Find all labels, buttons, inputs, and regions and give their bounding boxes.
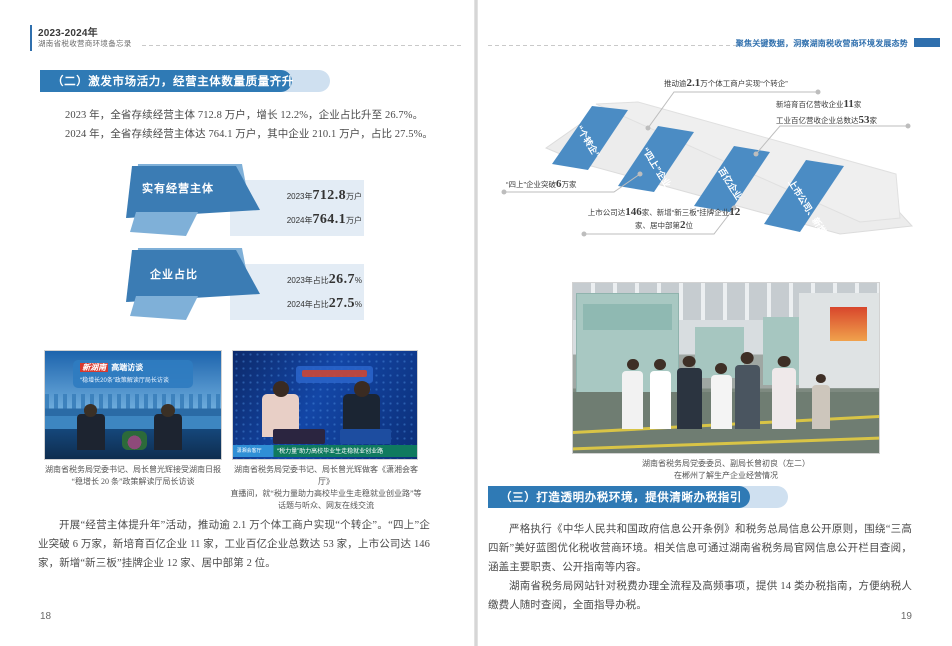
stat-row-value: 27.5 — [329, 296, 355, 311]
stat-row-prefix: 2024年占比 — [287, 300, 329, 309]
section-heading-2: （二）激发市场活力，经营主体数量质量齐升 — [40, 70, 330, 92]
leader-dot-4b — [582, 232, 587, 237]
photo-tv-interview: 新湖南高端访谈 “稳增长20条”政策解读厅局长访谈 — [44, 350, 222, 460]
photo-visitor-head — [778, 356, 791, 368]
stat-callout-enterprise-share: 企业占比 2023年占比26.7% 2024年占比27.5% — [124, 246, 374, 326]
running-head-dash-left — [142, 45, 462, 46]
running-head-rule — [30, 25, 32, 51]
stat-row-value: 26.7 — [329, 272, 355, 287]
right-paragraph-1: 严格执行《中华人民共和国政府信息公开条例》和税务总局信息公开原则，围绕“三高四新… — [488, 520, 912, 577]
left-intro-paragraph: 2023 年，全省存续经营主体 712.8 万户，增长 12.2%，企业占比升至… — [44, 106, 434, 144]
staircase-diagram: “个转企” “四上”企业 百亿企业 上市公司、新增企业 — [488, 66, 948, 244]
photo-skyline — [45, 394, 221, 418]
leader-dot-1 — [646, 126, 651, 131]
photo-desk-left — [273, 429, 325, 444]
diagram-annotation-4: “四上”企业突破6万家 — [506, 178, 577, 191]
photo-livestream: 潇湘会客厅 “税力量”助力高校毕业生走稳就业创业路 — [232, 350, 418, 460]
photo-visitor-head — [627, 359, 639, 371]
photo-visitor — [711, 375, 732, 429]
diagram-annotation-1: 推动逾2.1万个体工商户实现“个转企” — [664, 77, 788, 90]
photo-person-left — [77, 414, 105, 451]
photo-caption-livestream: 湖南省税务局党委书记、局长曾光辉做客《潇湘会客厅》 直播间，就“税力量助力高校毕… — [228, 464, 424, 512]
photo-plant — [122, 431, 147, 450]
stat-row-prefix: 2023年 — [287, 192, 313, 201]
diagram-annotation-2: 新培育百亿营收企业11家 — [776, 98, 861, 111]
photo-visitor — [622, 371, 643, 429]
photo-visitor — [650, 371, 671, 429]
section-heading-2-banner: （二）激发市场活力，经营主体数量质量齐升 — [40, 70, 292, 92]
running-head-dash-right — [488, 45, 740, 46]
stat-row-prefix: 2024年 — [287, 216, 313, 225]
stat-rows-1: 2023年712.8万户 2024年764.1万户 — [236, 184, 362, 232]
page-number-right: 19 — [901, 611, 912, 622]
photo-caption-factory-visit: 湖南省税务局党委委员、副局长曾初良（左二） 在郴州了解生产企业经营情况 — [576, 458, 876, 482]
photo-visitor — [772, 368, 796, 429]
running-head-block — [914, 38, 940, 47]
photo-visitor-head — [816, 374, 826, 383]
stat-row-suffix: % — [355, 300, 362, 309]
stat-row-value: 712.8 — [313, 188, 347, 203]
photo-overlay-brand: 新湖南 — [80, 363, 108, 372]
stat-row: 2024年764.1万户 — [236, 208, 362, 232]
photo-factory-visit — [572, 282, 880, 454]
photo-visitor-head — [741, 352, 754, 364]
running-head-subtitle: 湖南省税收营商环境备忘录 — [38, 38, 132, 49]
stat-callout-existing-entities: 实有经营主体 2023年712.8万户 2024年764.1万户 — [124, 162, 374, 242]
stat-row-suffix: 万户 — [346, 192, 362, 201]
photo-overlay-title: 新湖南高端访谈 — [80, 362, 143, 373]
page-number-left: 18 — [40, 611, 51, 622]
photo-lower-third: 潇湘会客厅 “税力量”助力高校毕业生走稳就业创业路 — [233, 445, 417, 457]
stat-row-value: 764.1 — [313, 212, 347, 227]
section-heading-2-label: （二）激发市场活力，经营主体数量质量齐升 — [52, 73, 294, 89]
photo-lower-third-tag: 潇湘会客厅 — [237, 447, 262, 454]
running-head-year: 2023-2024年 — [38, 24, 98, 39]
stat-row: 2023年712.8万户 — [236, 184, 362, 208]
stat-row-prefix: 2023年占比 — [287, 276, 329, 285]
photo-visitor-head — [715, 363, 727, 374]
photo-visitor — [735, 365, 759, 430]
photo-visitor — [812, 385, 830, 429]
stat-rows-2: 2023年占比26.7% 2024年占比27.5% — [236, 268, 362, 316]
left-intro-line-1: 2023 年，全省存续经营主体 712.8 万户，增长 12.2%，企业占比升至… — [44, 106, 434, 125]
document-spread: 2023-2024年 湖南省税收营商环境备忘录 聚焦关键数据，洞察湖南税收营商环… — [0, 0, 952, 646]
left-closing-text: 开展“经营主体提升年”活动，推动逾 2.1 万个体工商户实现“个转企”。“四上”… — [38, 516, 430, 573]
stat-row: 2023年占比26.7% — [236, 268, 362, 292]
section-heading-3-label: （三）打造透明办税环境，提供清晰办税指引 — [500, 489, 742, 505]
photo-wall-screen — [830, 307, 867, 341]
stat-row-suffix: % — [355, 276, 362, 285]
running-head-tagline: 聚焦关键数据，洞察湖南税收营商环境发展态势 — [736, 38, 908, 49]
section-heading-3-banner: （三）打造透明办税环境，提供清晰办税指引 — [488, 486, 750, 508]
left-intro-line-2: 2024 年，全省存续经营主体达 764.1 万户，其中企业 210.1 万户，… — [44, 125, 434, 144]
photo-overlay-subtitle: “稳增长20条”政策解读厅局长访谈 — [80, 375, 169, 384]
section-heading-3: （三）打造透明办税环境，提供清晰办税指引 — [488, 486, 788, 508]
leader-dot-2 — [754, 152, 759, 157]
leader-dot-2b — [906, 124, 911, 129]
photo-visitor — [677, 368, 701, 429]
stat-row-suffix: 万户 — [346, 216, 362, 225]
stat-label-2: 企业占比 — [150, 266, 198, 282]
leader-dot-1b — [816, 90, 821, 95]
diagram-annotation-3: 工业百亿营收企业总数达53家 — [776, 114, 877, 127]
photo-visitor-head — [683, 356, 696, 368]
photo-lower-third-text: “税力量”助力高校毕业生走稳就业创业路 — [277, 446, 383, 455]
stat-label-1: 实有经营主体 — [142, 180, 214, 196]
page-gutter — [474, 0, 478, 646]
right-paragraph-2: 湖南省税务局网站针对税费办理全流程及高频事项，提供 14 类办税指南，方便纳税人… — [488, 577, 912, 615]
photo-visitor-head — [654, 359, 666, 371]
right-body-paragraphs: 严格执行《中华人民共和国政府信息公开条例》和税务总局信息公开原则，围绕“三高四新… — [488, 520, 912, 615]
photo-person-right — [154, 414, 182, 451]
stat-row: 2024年占比27.5% — [236, 292, 362, 316]
left-closing-paragraph: 开展“经营主体提升年”活动，推动逾 2.1 万个体工商户实现“个转企”。“四上”… — [38, 516, 430, 573]
diagram-annotation-5: 上市公司达146家、新增“新三板”挂牌企业12家、居中部第2位 — [584, 206, 744, 232]
photo-caption-tv-interview: 湖南省税务局党委书记、局长曾光辉接受湖南日报 “稳增长 20 条”政策解读厅局长… — [40, 464, 226, 488]
photo-desk-right — [340, 429, 392, 444]
leader-dot-3 — [638, 172, 643, 177]
